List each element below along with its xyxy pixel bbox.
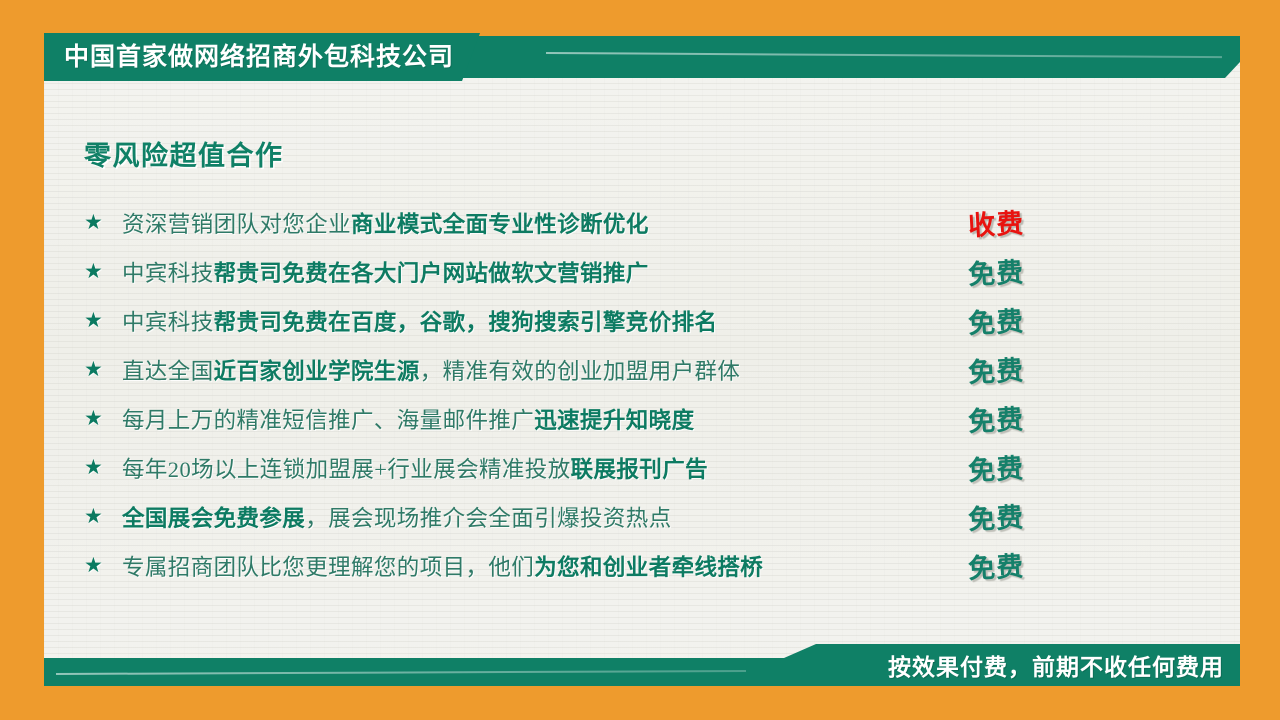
star-bullet-icon: ★ (84, 408, 122, 429)
benefit-text-plain-before: 每月上万的精准短信推广、海量邮件推广 (122, 408, 534, 433)
benefit-row: ★每月上万的精准短信推广、海量邮件推广迅速提升知晓度免费 (84, 394, 1144, 443)
benefit-row: ★直达全国近百家创业学院生源，精准有效的创业加盟用户群体免费 (84, 345, 1144, 394)
benefit-text-emphasis: 帮贵司免费在百度，谷歌，搜狗搜索引擎竞价排名 (214, 310, 718, 335)
price-tag-badge: 免费 (967, 299, 1025, 341)
benefit-text-emphasis: 联展报刊广告 (571, 457, 708, 482)
section-title: 零风险超值合作 (84, 134, 284, 173)
benefit-row: ★每年20场以上连锁加盟展+行业展会精准投放联展报刊广告免费 (84, 443, 1144, 492)
benefit-text-plain-after: ，精准有效的创业加盟用户群体 (420, 359, 741, 384)
star-bullet-icon: ★ (84, 212, 122, 233)
benefit-row: ★资深营销团队对您企业商业模式全面专业性诊断优化收费 (84, 198, 1144, 247)
benefit-text-plain-before: 中宾科技 (122, 310, 214, 335)
star-bullet-icon: ★ (84, 261, 122, 282)
star-bullet-icon: ★ (84, 555, 122, 576)
header-title: 中国首家做网络招商外包科技公司 (44, 33, 480, 81)
benefit-text-emphasis: 近百家创业学院生源 (214, 359, 420, 384)
benefit-text-emphasis: 帮贵司免费在各大门户网站做软文营销推广 (214, 261, 649, 286)
price-tag-badge: 免费 (967, 544, 1025, 586)
price-tag-badge: 免费 (967, 495, 1025, 537)
benefit-text-emphasis: 商业模式全面专业性诊断优化 (351, 212, 649, 237)
benefit-row: ★中宾科技帮贵司免费在各大门户网站做软文营销推广免费 (84, 247, 1144, 296)
benefit-text-plain-before: 直达全国 (122, 359, 214, 384)
benefit-text-emphasis: 全国展会免费参展 (122, 506, 305, 531)
benefit-text-plain-before: 专属招商团队比您更理解您的项目，他们 (122, 555, 534, 580)
benefit-text-plain-before: 资深营销团队对您企业 (122, 212, 351, 237)
benefit-text-plain-before: 每年20场以上连锁加盟展+行业展会精准投放 (122, 457, 571, 482)
price-tag-badge: 免费 (967, 348, 1025, 390)
star-bullet-icon: ★ (84, 506, 122, 527)
star-bullet-icon: ★ (84, 359, 122, 380)
price-tag-badge: 收费 (967, 201, 1025, 243)
benefit-row: ★中宾科技帮贵司免费在百度，谷歌，搜狗搜索引擎竞价排名免费 (84, 296, 1144, 345)
benefit-row: ★全国展会免费参展，展会现场推介会全面引爆投资热点免费 (84, 492, 1144, 541)
price-tag-badge: 免费 (967, 250, 1025, 292)
benefit-text-emphasis: 为您和创业者牵线搭桥 (534, 555, 763, 580)
footer-text: 按效果付费，前期不收任何费用 (888, 648, 1224, 682)
benefit-row: ★专属招商团队比您更理解您的项目，他们为您和创业者牵线搭桥免费 (84, 541, 1144, 590)
star-bullet-icon: ★ (84, 310, 122, 331)
benefit-text-emphasis: 迅速提升知晓度 (534, 408, 694, 433)
slide-root: 中国首家做网络招商外包科技公司 零风险超值合作 ★资深营销团队对您企业商业模式全… (0, 0, 1280, 720)
benefit-text-plain-after: ，展会现场推介会全面引爆投资热点 (305, 506, 671, 531)
benefit-list: ★资深营销团队对您企业商业模式全面专业性诊断优化收费★中宾科技帮贵司免费在各大门… (84, 198, 1144, 590)
price-tag-badge: 免费 (967, 397, 1025, 439)
benefit-text-plain-before: 中宾科技 (122, 261, 214, 286)
price-tag-badge: 免费 (967, 446, 1025, 488)
star-bullet-icon: ★ (84, 457, 122, 478)
